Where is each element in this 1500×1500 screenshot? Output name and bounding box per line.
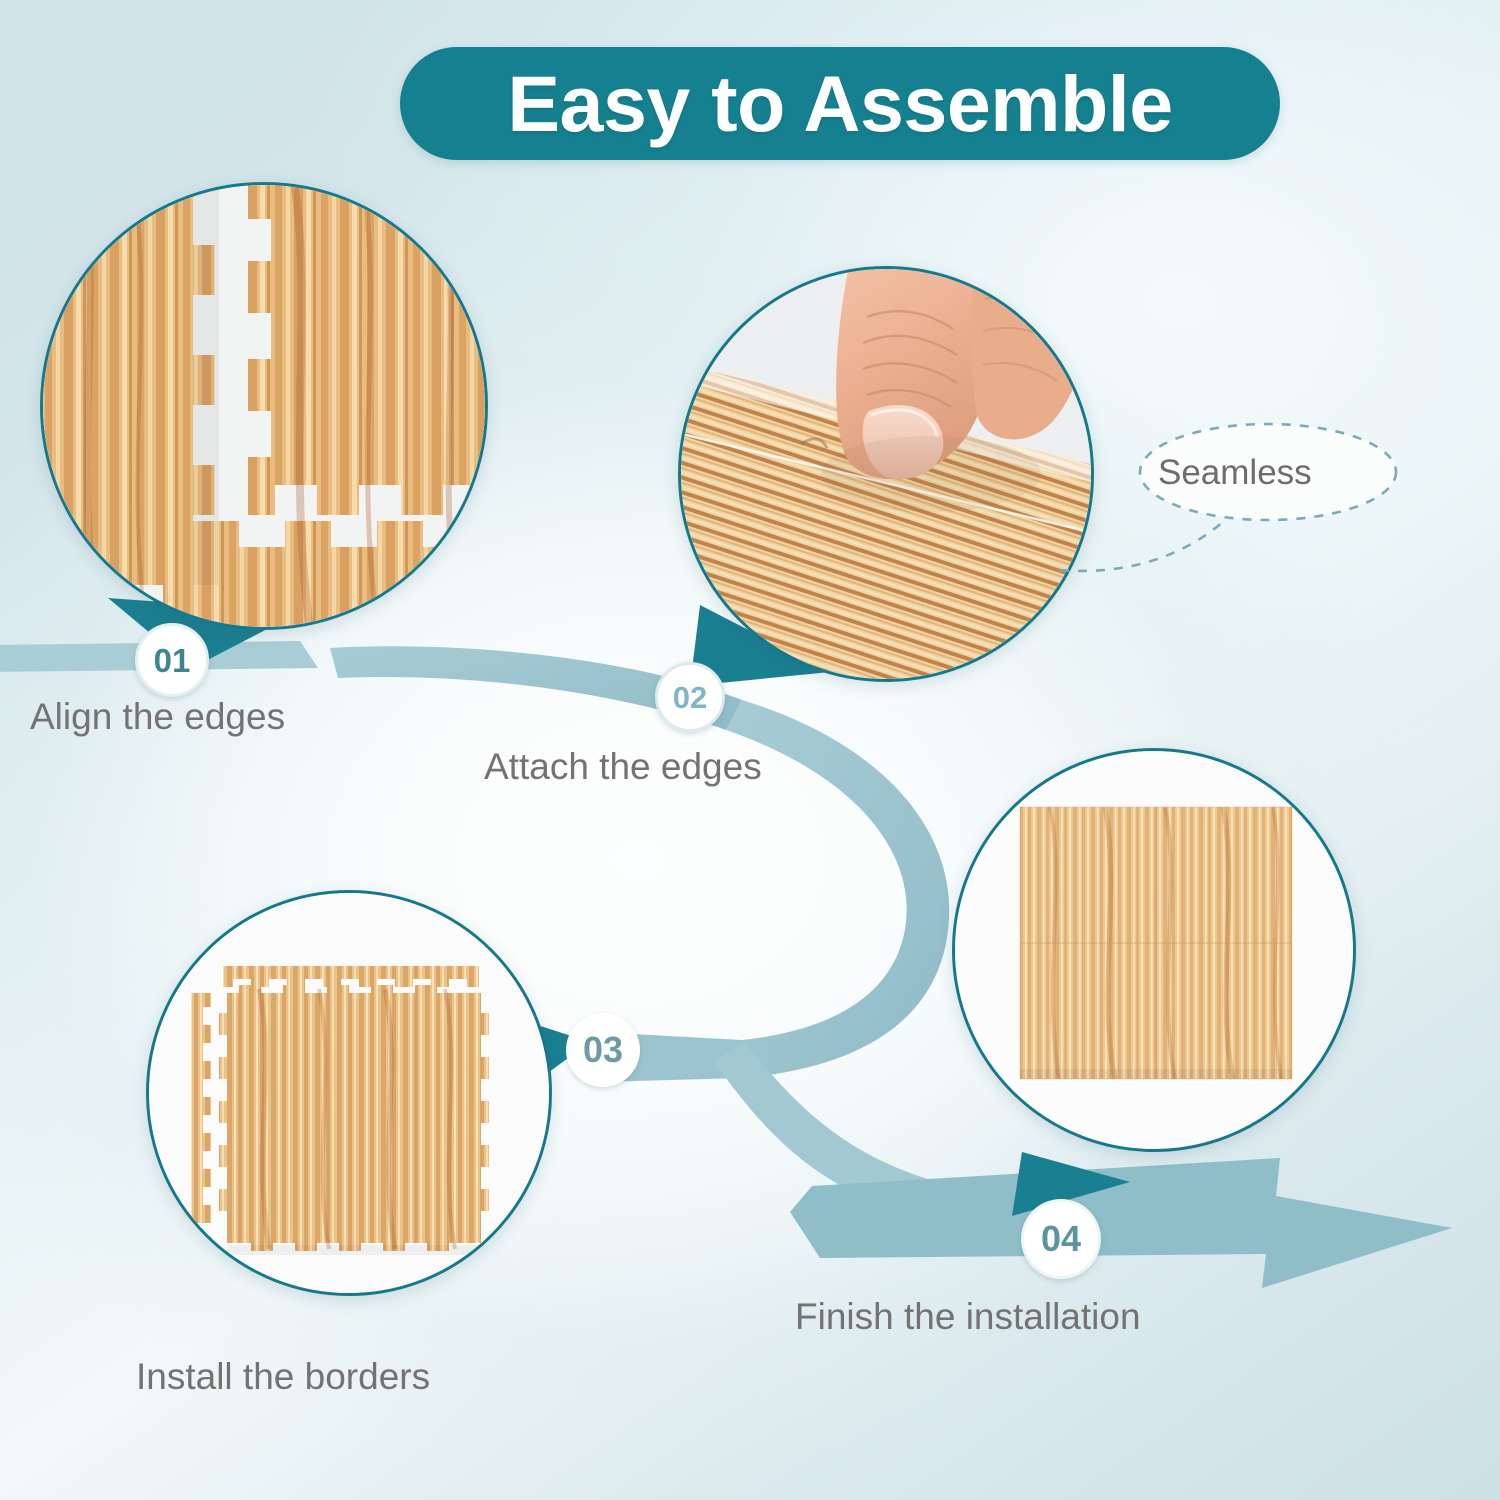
step-badge-03-text: 03 [583, 1032, 623, 1068]
step-badge-03[interactable]: 03 [566, 1013, 640, 1087]
seamless-label: Seamless [1158, 455, 1312, 490]
infographic-canvas: Easy to Assemble [0, 0, 1500, 1500]
step-badge-04-text: 04 [1041, 1221, 1081, 1257]
callout-tail [1060, 520, 1225, 571]
step-badge-01-text: 01 [154, 644, 191, 677]
step-label-03: Install the borders [136, 1358, 430, 1395]
step-badge-02[interactable]: 02 [655, 662, 725, 732]
step-badge-02-text: 02 [673, 682, 707, 713]
step-badge-04[interactable]: 04 [1021, 1199, 1101, 1279]
step-badge-01[interactable]: 01 [135, 623, 209, 697]
step-label-04: Finish the installation [795, 1298, 1141, 1335]
step-label-01: Align the edges [30, 698, 285, 735]
step-label-02: Attach the edges [484, 748, 762, 785]
